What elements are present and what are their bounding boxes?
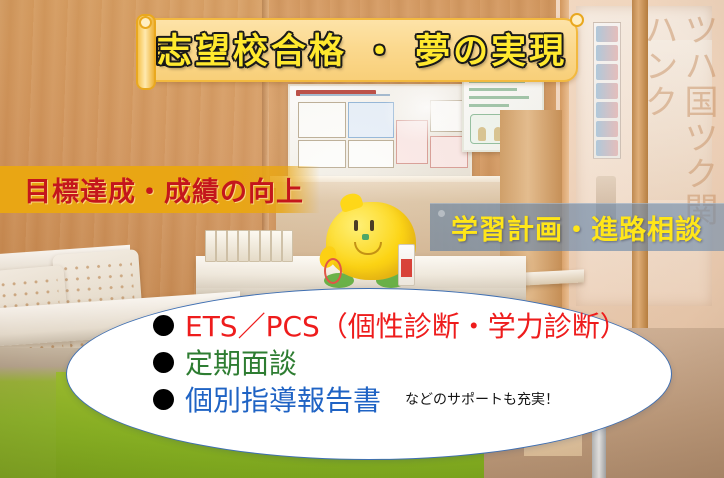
book-row (205, 228, 297, 262)
feature-label-2: 定期面談 (185, 342, 297, 382)
bullet-dot-icon (153, 352, 174, 373)
list-item: 個別指導報告書 などのサポートも充実！ (153, 381, 671, 417)
list-item: 定期面談 (153, 344, 671, 380)
spray-bottle (398, 244, 415, 286)
feature-label-1: ETS／PCS（個性診断・学力診断） (185, 305, 628, 345)
top-scroll-banner: 志望校合格 ・ 夢の実現 (136, 18, 588, 78)
door-frame-center (632, 0, 648, 330)
support-note: などのサポートも充実！ (405, 389, 559, 409)
promo-banner-image: ツハ国ツク関ハンク (0, 0, 724, 478)
door-poster-strip (593, 22, 621, 159)
bullet-dot-icon (153, 315, 174, 336)
list-item: ETS／PCS（個性診断・学力診断） (153, 307, 671, 343)
left-banner-text: 目標達成・成績の向上 (24, 166, 304, 213)
feature-label-3: 個別指導報告書 (185, 379, 381, 419)
right-banner-text: 学習計画・進路相談 (430, 204, 724, 251)
features-list: ETS／PCS（個性診断・学力診断） 定期面談 個別指導報告書 などのサポートも… (67, 289, 671, 459)
headline-text: 志望校合格 ・ 夢の実現 (136, 18, 588, 78)
left-banner: 目標達成・成績の向上 (0, 166, 320, 213)
bullet-dot-icon (153, 389, 174, 410)
features-callout: ETS／PCS（個性診断・学力診断） 定期面談 個別指導報告書 などのサポートも… (66, 288, 672, 460)
right-banner: 学習計画・進路相談 (430, 203, 724, 251)
